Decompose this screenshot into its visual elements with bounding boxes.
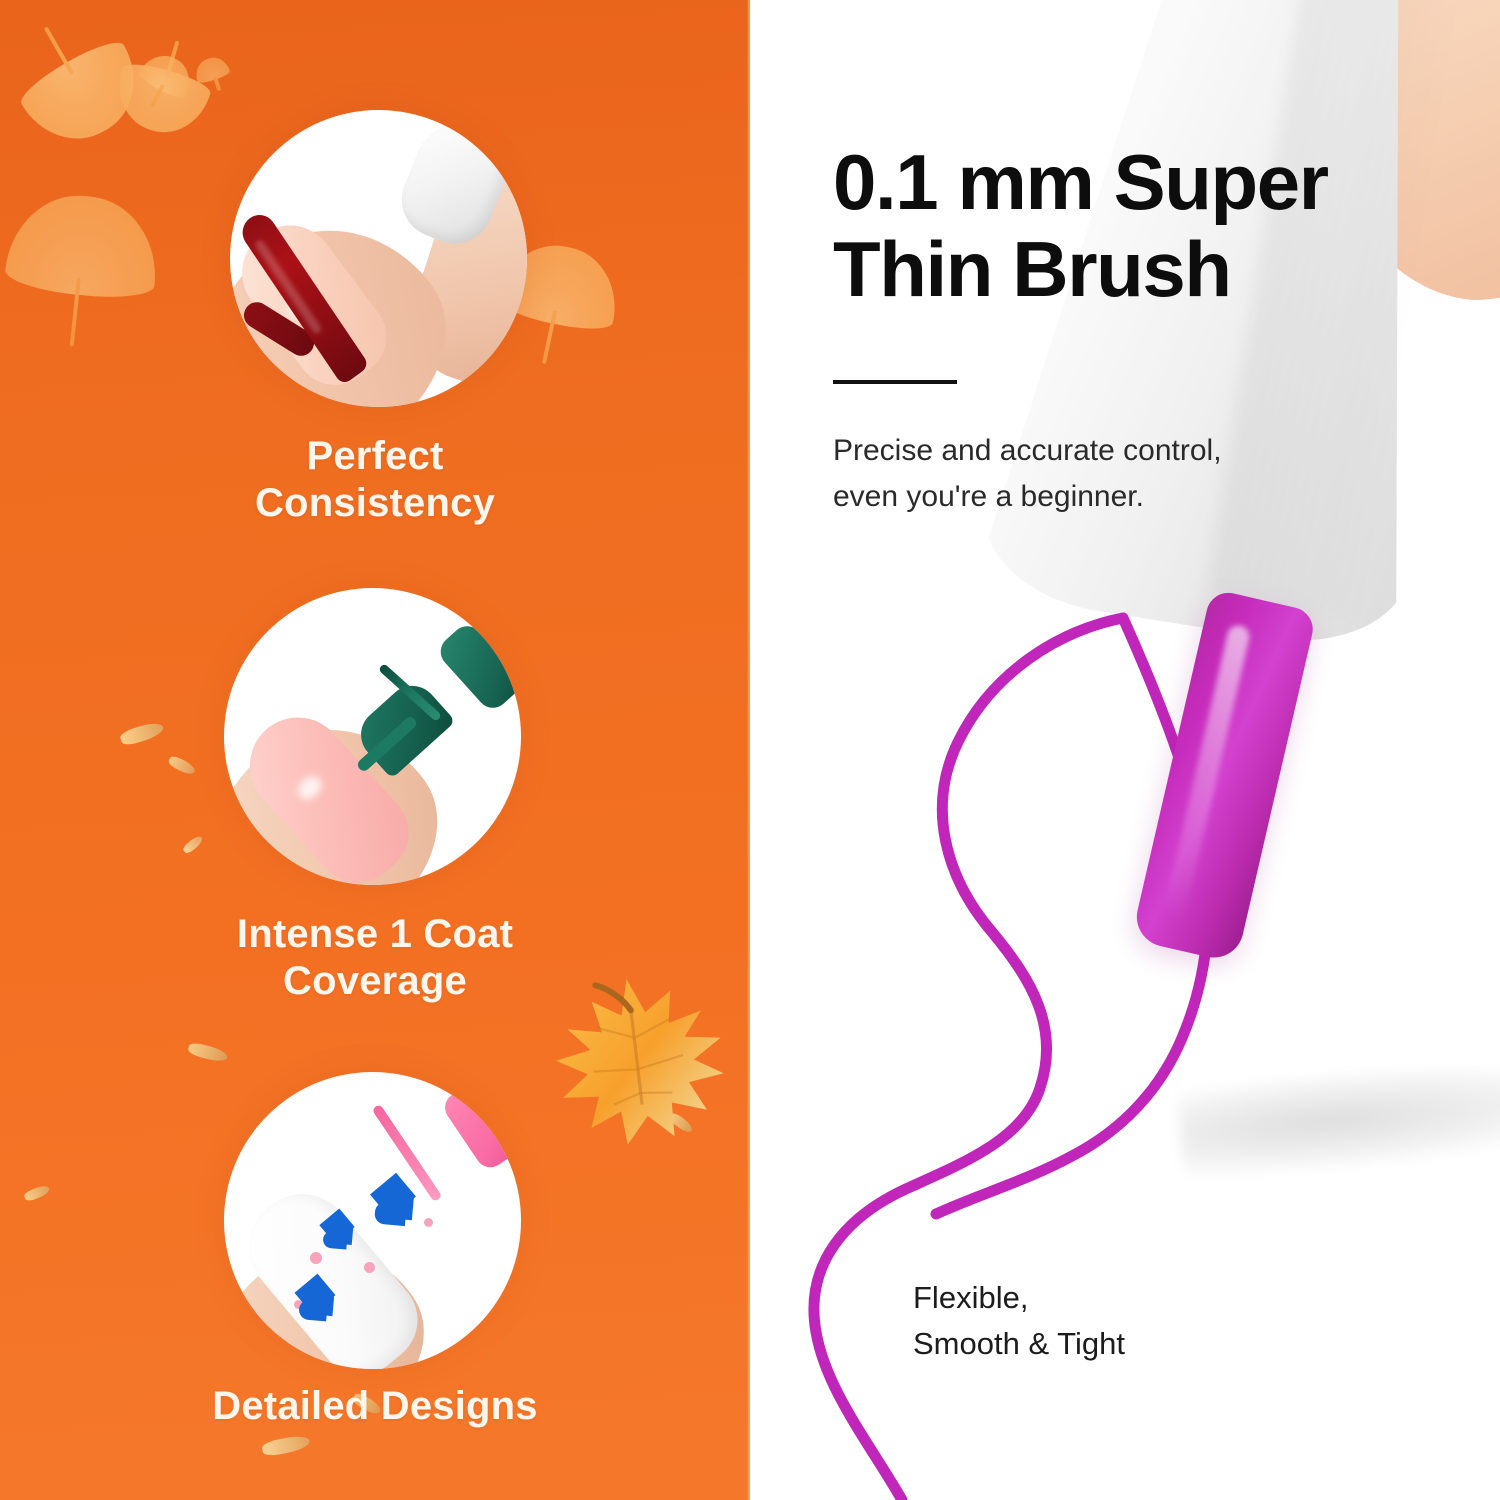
brush-handle — [434, 620, 521, 715]
feature-label: Detailed Designs — [135, 1383, 615, 1430]
right-content-panel: 0.1 mm Super Thin Brush Precise and accu… — [750, 0, 1500, 1500]
feature-block-intense-coverage: Intense 1 Coat Coverage — [0, 588, 750, 1005]
confetti-fleck — [261, 1433, 311, 1458]
ginkgo-leaf-icon — [192, 54, 234, 95]
feature-label: Perfect Consistency — [135, 433, 615, 527]
product-feature-panel: Perfect Consistency Intense 1 Coat Cover… — [0, 0, 1500, 1500]
left-feature-panel: Perfect Consistency Intense 1 Coat Cover… — [0, 0, 750, 1500]
feature-image-red-polish-stroke — [230, 110, 527, 407]
feature-block-perfect-consistency: Perfect Consistency — [0, 110, 750, 527]
pink-dot — [364, 1262, 375, 1273]
feature-image-heart-nail-art — [224, 1072, 521, 1369]
page-title: 0.1 mm Super Thin Brush — [833, 139, 1473, 314]
feature-image-green-polish-tip — [224, 588, 521, 885]
feature-block-detailed-designs: Detailed Designs — [0, 1072, 750, 1430]
pink-dot — [424, 1218, 433, 1227]
subcopy-text: Precise and accurate control, even you'r… — [833, 428, 1393, 519]
pink-dot — [310, 1252, 322, 1264]
heart-icon — [370, 1173, 416, 1219]
brush-handle — [439, 1079, 521, 1173]
feature-label: Intense 1 Coat Coverage — [135, 911, 615, 1005]
confetti-fleck — [187, 1041, 229, 1063]
ginkgo-leaf-icon — [129, 47, 198, 116]
title-underline-rule — [833, 380, 957, 384]
feature-caption: Flexible, Smooth & Tight — [913, 1275, 1333, 1367]
product-shadow — [1177, 1052, 1500, 1180]
